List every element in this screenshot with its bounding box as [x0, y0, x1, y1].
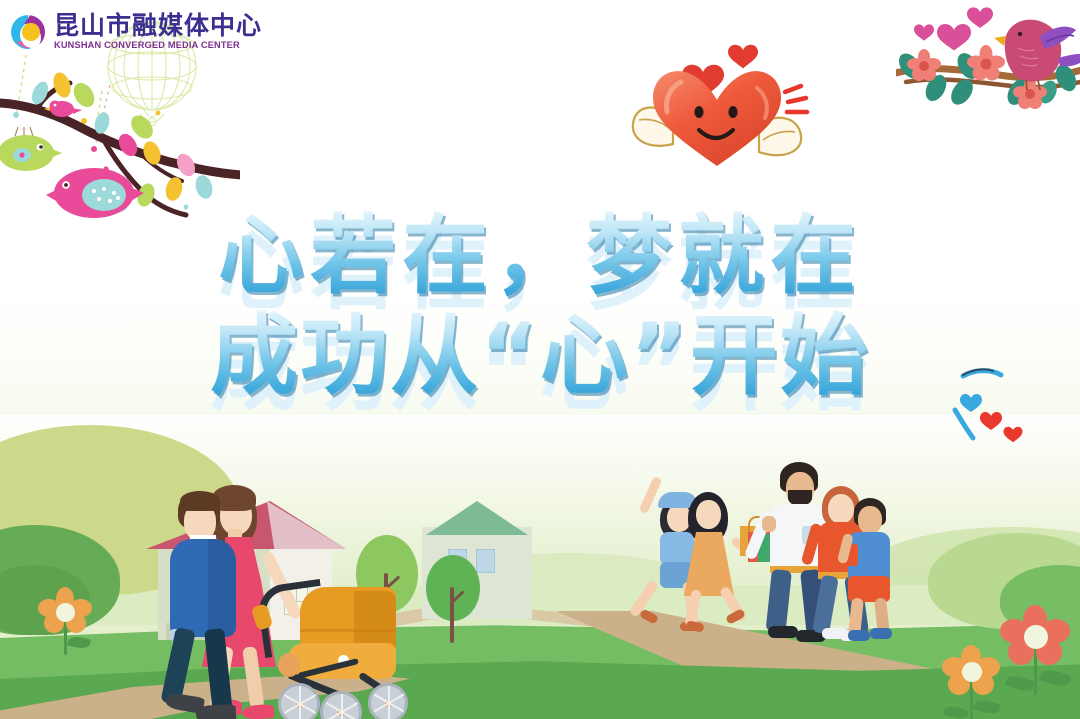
boy-face [858, 506, 882, 534]
wheel-spoke [326, 702, 343, 713]
wheel-spoke [299, 704, 301, 719]
headline-line-1: 心若在，梦就在 心若在，梦就在 [0, 206, 1080, 306]
wheel-spoke [284, 694, 301, 705]
flower-leaf [973, 698, 1001, 717]
father-leg-left [766, 569, 792, 633]
girl-orange-shoe-2 [725, 608, 746, 625]
boy-shoe-right [870, 628, 892, 639]
father-hand [762, 516, 776, 532]
tree-trunk [450, 587, 454, 643]
couple-with-stroller [168, 477, 398, 719]
headline-line-1-text: 心若在，梦就在 [0, 206, 1080, 306]
girl-blue-shoe-1 [639, 608, 659, 624]
baby-head [278, 653, 300, 677]
wheel-spoke [284, 703, 301, 714]
flower-leaf [943, 704, 969, 719]
family-of-five [636, 450, 886, 640]
girl-orange-face [696, 500, 721, 529]
bird-on-flowering-branch-icon [896, 0, 1080, 111]
man-sweater-shade [208, 539, 236, 637]
stroller-wheel-2 [320, 691, 362, 719]
flower-leaf [1039, 667, 1072, 690]
headline-block: 心若在，梦就在 心若在，梦就在 成功从“心”开始 成功从“心”开始 [0, 206, 1080, 406]
man-hair-fringe [180, 491, 220, 511]
flower-core [1024, 625, 1048, 649]
park-landscape-scene [0, 415, 1080, 719]
site-logo[interactable]: 昆山市融媒体中心 KUNSHAN CONVERGED MEDIA CENTER [8, 8, 262, 56]
man-shoe-right [196, 704, 237, 719]
flower-leaf [1005, 673, 1036, 695]
stroller-wheel-3 [368, 683, 408, 719]
baby-stroller [264, 587, 404, 719]
logo-english-name: KUNSHAN CONVERGED MEDIA CENTER [54, 41, 262, 50]
circular-media-logo-icon [8, 12, 48, 52]
wheel-spoke [342, 711, 359, 719]
logo-chinese-name: 昆山市融媒体中心 [54, 13, 262, 38]
girl-blue-top [660, 532, 694, 566]
poster-canvas: 昆山市融媒体中心 KUNSHAN CONVERGED MEDIA CENTER … [0, 0, 1080, 719]
headline-line-2-text: 成功从“心”开始 [0, 306, 1080, 406]
flower-leaf [67, 635, 91, 651]
flower-orange-right [942, 645, 1002, 719]
flower-core [56, 603, 75, 622]
headline-line-2: 成功从“心”开始 成功从“心”开始 [0, 306, 1080, 406]
flower-core [962, 662, 982, 682]
father-shoe-left [768, 626, 798, 638]
flower-orange-left [38, 587, 94, 657]
flower-salmon-right [1000, 605, 1074, 701]
wheel-spoke [388, 703, 390, 719]
wheel-spoke [389, 702, 405, 712]
logo-text-block: 昆山市融媒体中心 KUNSHAN CONVERGED MEDIA CENTER [54, 13, 262, 50]
girl-blue-arm-up [639, 476, 663, 514]
birds-on-branch-icon [0, 55, 240, 230]
boy-shoe-left [848, 630, 870, 641]
mother-face [828, 494, 854, 524]
winged-smiling-heart-icon [625, 20, 815, 180]
stroller-wheel-1 [278, 683, 320, 719]
tree-2 [418, 555, 488, 655]
wheel-spoke [300, 703, 317, 714]
